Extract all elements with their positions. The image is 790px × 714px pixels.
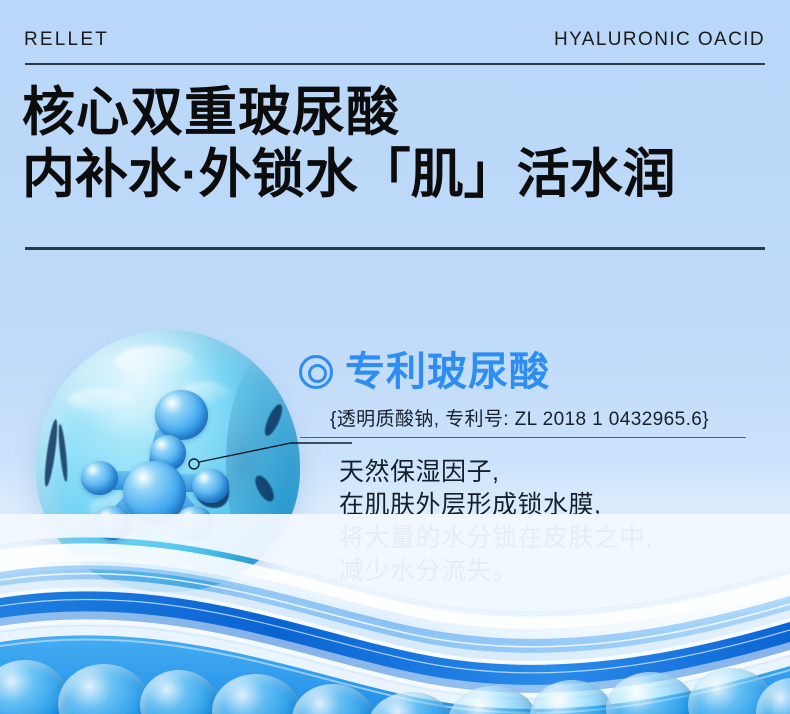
banner-header: RELLET HYALURONIC OACID <box>0 0 790 70</box>
double-ring-icon <box>299 355 333 389</box>
headline-line-2: 内补水·外锁水「肌」活水润 <box>22 144 782 206</box>
gel-bead <box>292 684 374 714</box>
headline-divider <box>25 247 765 250</box>
gel-bead <box>448 686 538 714</box>
brand-name: RELLET <box>24 29 109 51</box>
molecule-atom <box>192 469 229 503</box>
headline-line-1: 核心双重玻尿酸 <box>22 82 782 144</box>
shadow-streak <box>262 403 285 438</box>
header-category-label: HYALURONIC OACID <box>554 29 765 51</box>
shadow-streak <box>42 419 59 488</box>
molecule-atom <box>81 461 118 495</box>
shadow-streak <box>251 473 277 505</box>
gel-bead <box>530 680 614 714</box>
gel-bead <box>58 664 150 714</box>
gel-bead <box>140 670 218 714</box>
headline-block: 核心双重玻尿酸 内补水·外锁水「肌」活水润 <box>22 82 782 206</box>
body-line-1: 天然保湿因子, <box>339 456 652 489</box>
patent-heading: 专利玻尿酸 <box>299 350 550 394</box>
gel-bead <box>368 692 454 714</box>
header-divider <box>25 63 765 65</box>
gel-bead-texture <box>0 644 790 714</box>
shadow-streak <box>57 424 69 482</box>
patent-title: 专利玻尿酸 <box>345 350 550 394</box>
gel-bead <box>606 672 696 714</box>
patent-subtitle: {透明质酸钠, 专利号: ZL 2018 1 0432965.6} <box>330 404 709 431</box>
gel-bead <box>212 674 300 714</box>
highlight-blob <box>115 346 194 375</box>
molecule-atom <box>155 390 208 440</box>
highlight-blob <box>68 388 137 412</box>
product-banner: RELLET HYALURONIC OACID 核心双重玻尿酸 内补水·外锁水「… <box>0 0 790 714</box>
patent-divider <box>300 437 746 438</box>
